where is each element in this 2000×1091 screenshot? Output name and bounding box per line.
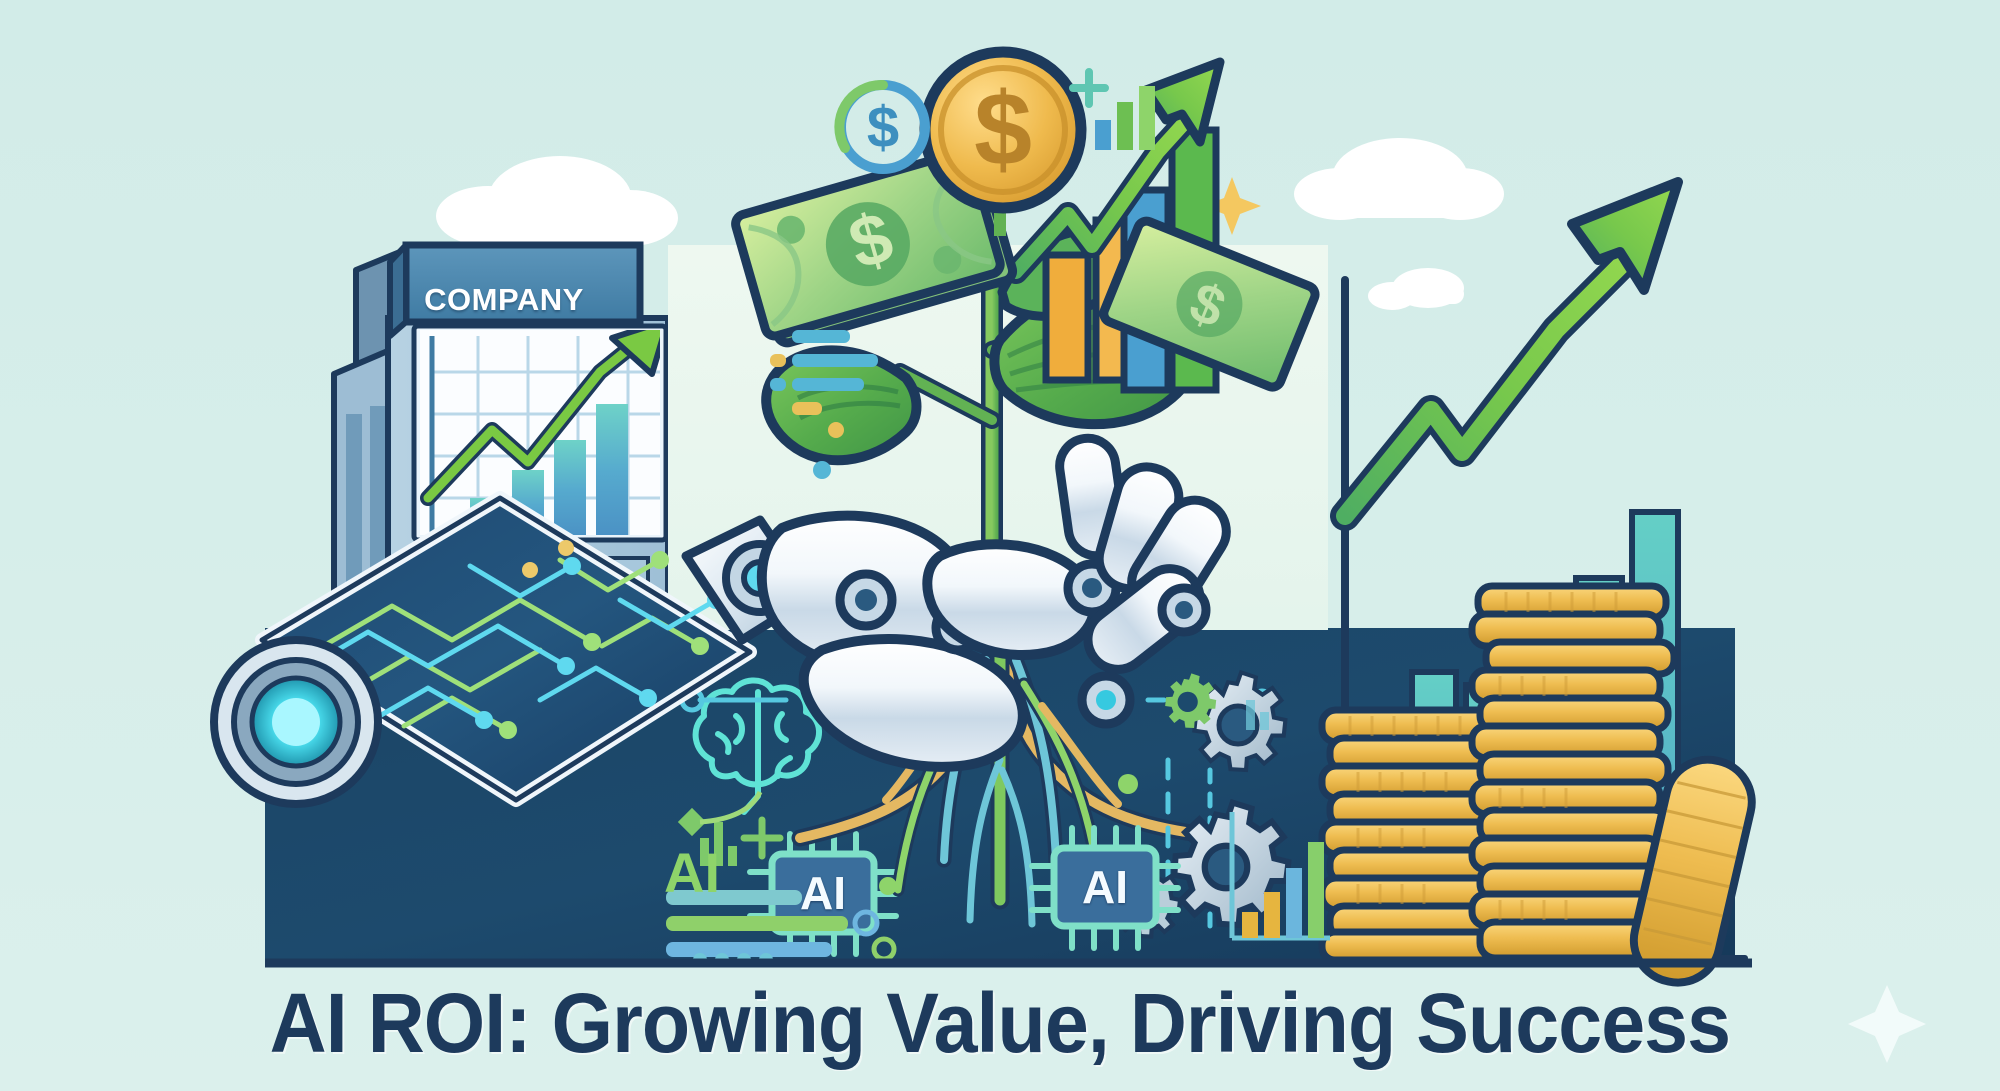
illustration-svg <box>0 0 2000 1091</box>
building-window-chart <box>420 320 668 540</box>
illustration-canvas: COMPANY AI AI AI $ $ $ $ AI ROI: Growing… <box>0 0 2000 1091</box>
